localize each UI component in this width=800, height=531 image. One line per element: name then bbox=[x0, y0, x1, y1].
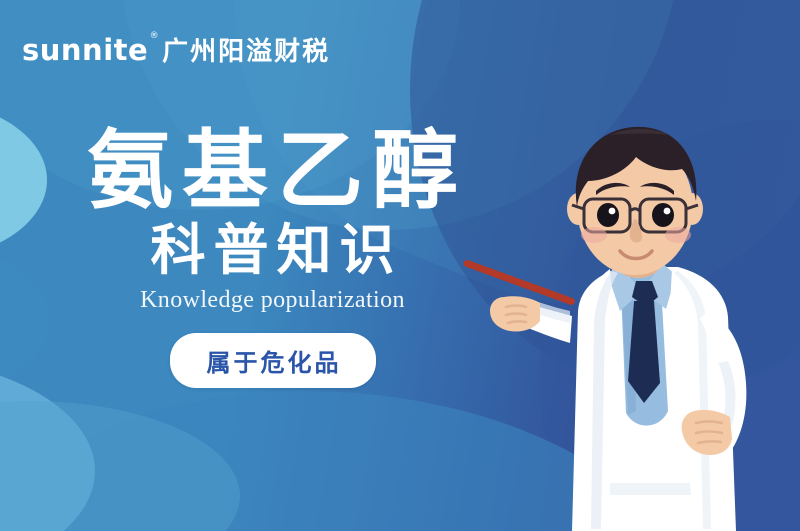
brand-logo-row: sunnite® 广州阳溢财税 bbox=[22, 36, 330, 65]
page-subtitle-english: Knowledge popularization bbox=[0, 286, 545, 315]
cheek-right bbox=[665, 227, 691, 243]
status-badge: 属于危化品 bbox=[170, 333, 376, 388]
sunnite-logo-text: sunnite bbox=[22, 33, 148, 67]
sunnite-logo: sunnite® bbox=[22, 36, 148, 65]
cheek-left bbox=[581, 227, 607, 243]
headline-block: 氨基乙醇 科普知识 Knowledge popularization 属于危化品 bbox=[0, 128, 545, 388]
promotional-banner: sunnite® 广州阳溢财税 氨基乙醇 科普知识 Knowledge popu… bbox=[0, 0, 800, 531]
page-title: 氨基乙醇 bbox=[0, 128, 545, 216]
company-name-cn: 广州阳溢财税 bbox=[162, 39, 330, 65]
registered-trademark-icon: ® bbox=[150, 32, 160, 41]
badge-container: 属于危化品 bbox=[0, 333, 545, 388]
page-subtitle: 科普知识 bbox=[0, 220, 545, 281]
